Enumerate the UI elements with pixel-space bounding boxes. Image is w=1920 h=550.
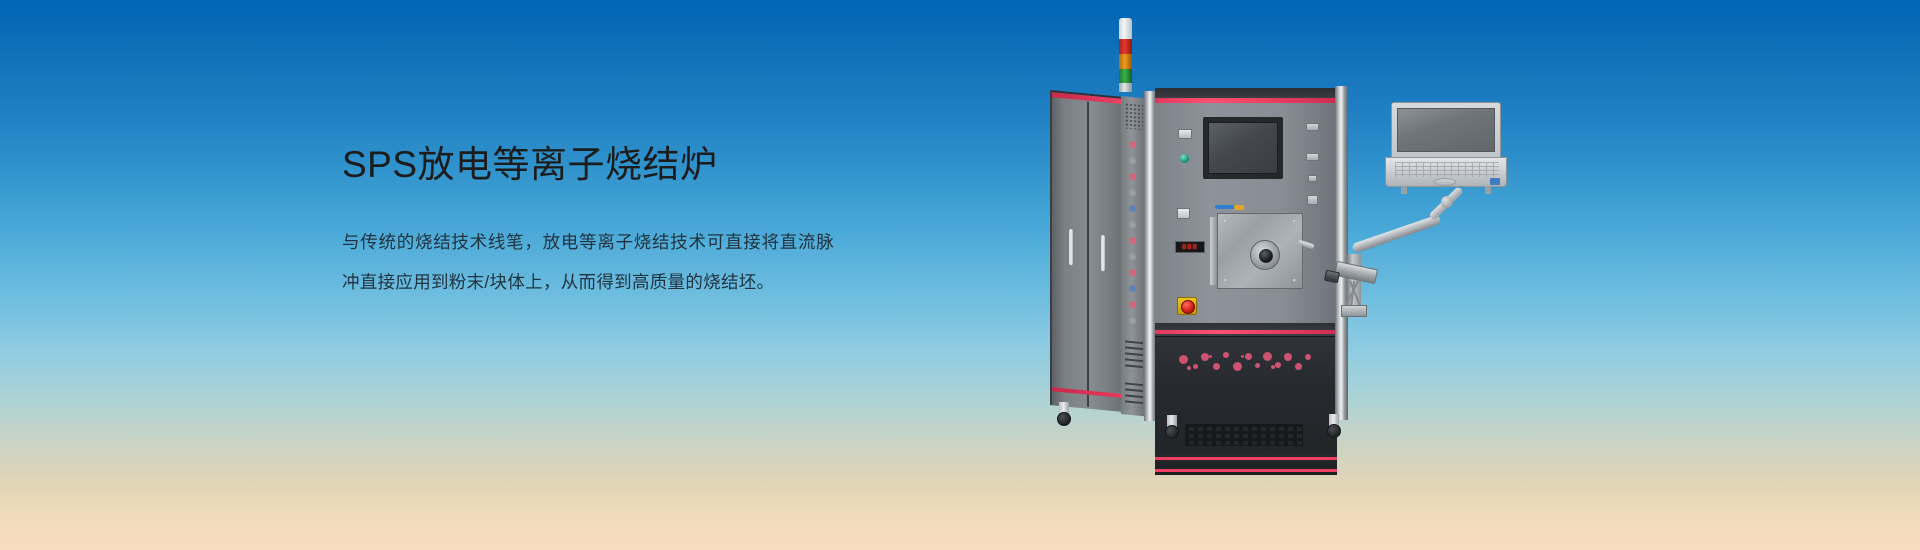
product-banner: SPS放电等离子烧结炉 与传统的烧结技术线笔，放电等离子烧结技术可直接将直流脉冲… <box>0 0 1920 550</box>
laptop-stand-foot <box>1485 186 1491 194</box>
indicator-button <box>1308 175 1317 182</box>
hmi-screen-surface <box>1208 122 1278 174</box>
selector-knob-icon <box>1180 154 1189 166</box>
emergency-stop-button <box>1177 297 1197 315</box>
cabinet-door-seam <box>1087 102 1089 407</box>
laptop-badge-icon <box>1490 178 1500 185</box>
status-led-column <box>1126 140 1142 332</box>
caster-wheel <box>1165 415 1179 439</box>
vent-grille-icon <box>1185 424 1303 446</box>
frame-post-right <box>1335 86 1348 420</box>
chamber-hinge <box>1210 217 1217 285</box>
cabinet-accent-stripe <box>1155 457 1337 460</box>
vent-grille-icon <box>1125 382 1143 408</box>
signal-tower-cap <box>1119 18 1132 39</box>
product-photo-sps-furnace: 888 <box>1035 18 1575 518</box>
cabinet-accent-stripe <box>1155 98 1337 103</box>
signal-lamp-green-icon <box>1119 69 1132 83</box>
laptop-stand-foot <box>1401 186 1407 194</box>
main-cabinet: 888 <box>1155 88 1337 416</box>
viewport-glass <box>1259 249 1273 263</box>
tripod-clamp <box>1341 305 1367 317</box>
laptop-lid <box>1391 102 1501 158</box>
cabinet-door-handle <box>1069 229 1073 265</box>
vent-grille-icon <box>1125 102 1143 130</box>
laptop-keyboard <box>1395 162 1499 177</box>
digital-readout: 888 <box>1175 241 1205 253</box>
monitor-arm-segment <box>1351 214 1441 253</box>
sintering-chamber-door <box>1217 213 1303 289</box>
hmi-touchscreen <box>1203 117 1283 179</box>
lower-service-panel <box>1155 336 1337 456</box>
decorative-dot-pattern <box>1179 351 1313 377</box>
vent-grille-icon <box>1125 340 1143 372</box>
signal-tower-base <box>1119 83 1132 92</box>
rear-cabinet <box>1050 90 1122 412</box>
cabinet-accent-stripe <box>1155 469 1337 472</box>
power-rocker-switch <box>1178 129 1192 139</box>
cabinet-top-bevel <box>1155 88 1337 98</box>
page-title: SPS放电等离子烧结炉 <box>342 140 962 190</box>
chamber-cable <box>1215 205 1249 209</box>
chamber-door-handle <box>1298 240 1315 250</box>
monitor-arm-joint <box>1441 196 1453 208</box>
caster-wheel <box>1057 402 1071 426</box>
digital-readout-value: 888 <box>1182 243 1198 251</box>
banner-text-block: SPS放电等离子烧结炉 与传统的烧结技术线笔，放电等离子烧结技术可直接将直流脉冲… <box>342 140 962 302</box>
indicator-button <box>1306 153 1319 161</box>
indicator-button <box>1306 123 1319 131</box>
control-laptop <box>1385 102 1507 194</box>
usb-port-icon <box>1307 195 1318 205</box>
banner-description: 与传统的烧结技术线笔，放电等离子烧结技术可直接将直流脉冲直接应用到粉末/块体上，… <box>342 222 834 302</box>
cabinet-accent-stripe <box>1155 330 1337 334</box>
laptop-screen <box>1397 108 1495 152</box>
signal-lamp-red-icon <box>1119 39 1132 54</box>
chamber-viewport <box>1250 240 1280 270</box>
caster-wheel <box>1327 414 1341 438</box>
control-switch <box>1177 208 1190 219</box>
pyrometer-camera <box>1325 265 1383 325</box>
signal-lamp-amber-icon <box>1119 54 1132 69</box>
cabinet-door-handle <box>1101 235 1105 271</box>
laptop-touchpad <box>1434 178 1456 186</box>
camera-lens-icon <box>1324 270 1340 284</box>
signal-tower-light <box>1119 18 1132 92</box>
laptop-base <box>1385 157 1507 187</box>
emergency-stop-icon <box>1181 300 1195 314</box>
